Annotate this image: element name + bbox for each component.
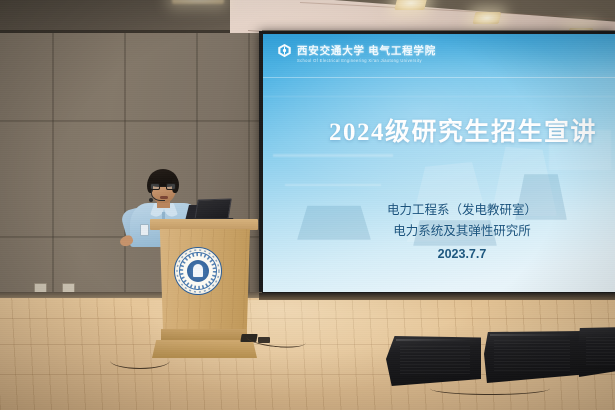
speaker-grille <box>494 339 570 371</box>
speaker-grille <box>400 344 470 374</box>
floor-cable <box>110 352 170 369</box>
ceiling-light-panel-icon <box>394 0 427 10</box>
speaker-highlight <box>396 339 474 341</box>
slide-header-rule <box>263 77 615 78</box>
slide-watermark <box>263 96 615 97</box>
university-name-cn: 西安交通大学 电气工程学院 <box>297 43 436 58</box>
headset-mic-capsule <box>149 198 153 202</box>
university-name-en: School Of Electrical Engineering Xi'an J… <box>297 58 422 63</box>
projection-screen[interactable]: 西安交通大学 电气工程学院 School Of Electrical Engin… <box>263 34 615 292</box>
slide-title: 2024级研究生招生宣讲 <box>263 112 615 148</box>
stage-monitor-speaker-icon <box>578 327 615 377</box>
wall-seam <box>0 120 262 122</box>
university-seal-icon <box>174 247 222 295</box>
screen-bottom-edge <box>259 293 615 300</box>
speaker-highlight <box>490 334 576 336</box>
wall-seam <box>124 33 126 295</box>
slide-subtitle-line-2: 电力系统及其弹性研究所 <box>309 221 615 242</box>
stage-monitor-speaker-icon <box>484 331 582 383</box>
glasses-lens-right <box>166 183 176 190</box>
wall-seam <box>52 33 54 295</box>
speaker-grille <box>586 335 615 365</box>
lecture-hall-scene: 西安交通大学 电气工程学院 School Of Electrical Engin… <box>0 0 615 410</box>
slide-date: 2023.7.7 <box>309 242 615 266</box>
ceiling-light-panel-icon <box>473 12 502 24</box>
podium-top-surface <box>150 219 258 230</box>
slide-subtitle-block: 电力工程系（发电教研室） 电力系统及其弹性研究所 2023.7.7 <box>263 200 615 266</box>
hexagon-university-emblem-icon <box>277 43 292 58</box>
university-logo: 西安交通大学 电气工程学院 <box>277 43 436 58</box>
slide-watermark <box>285 184 381 186</box>
slide-watermark <box>273 154 393 157</box>
floor-cable <box>430 382 550 395</box>
ceiling-light-panel-icon <box>172 0 224 4</box>
name-badge-icon <box>140 224 149 236</box>
stage-monitor-speaker-icon <box>386 336 481 386</box>
slide-subtitle-line-1: 电力工程系（发电教研室） <box>309 200 615 221</box>
glasses-lens-left <box>150 183 160 190</box>
seal-bell-motif <box>193 264 203 277</box>
